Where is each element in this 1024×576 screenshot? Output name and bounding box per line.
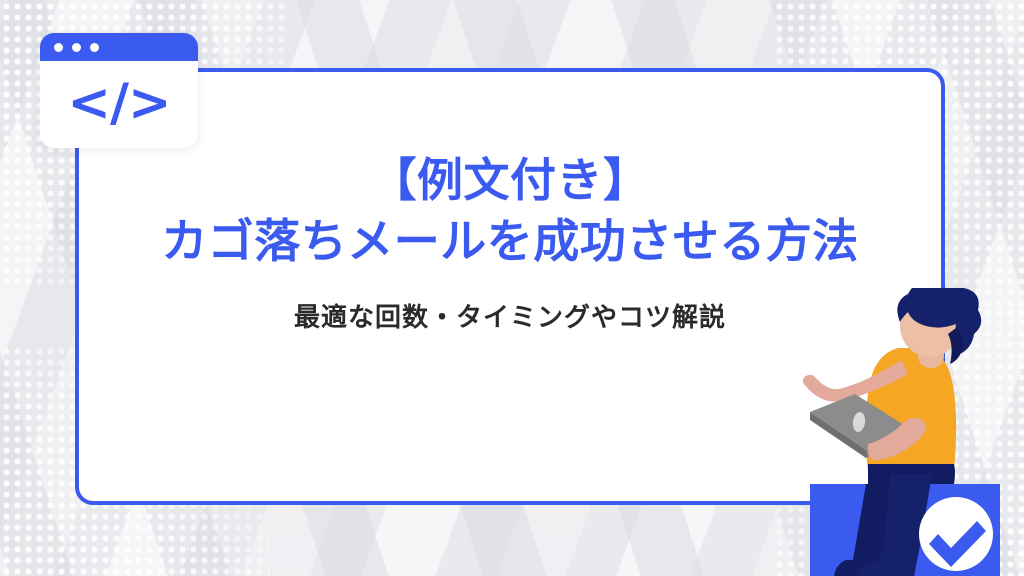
person-with-laptop-illustration <box>780 288 1024 576</box>
window-dot-3 <box>90 43 99 52</box>
page-title: 【例文付き】 カゴ落ちメールを成功させる方法 <box>75 150 945 271</box>
code-window-titlebar <box>40 33 198 61</box>
check-circle-icon <box>919 497 993 571</box>
code-brackets-glyph: </> <box>67 77 170 129</box>
code-window-icon: </> <box>40 33 198 148</box>
code-window-body: </> <box>40 61 198 148</box>
title-line-1: 【例文付き】 <box>371 153 650 207</box>
thumbnail-canvas: </> 【例文付き】 カゴ落ちメールを成功させる方法 最適な回数・タイミングやコ… <box>0 0 1024 576</box>
title-line-2: カゴ落ちメールを成功させる方法 <box>75 211 945 272</box>
window-dot-2 <box>72 43 81 52</box>
window-dot-1 <box>54 43 63 52</box>
